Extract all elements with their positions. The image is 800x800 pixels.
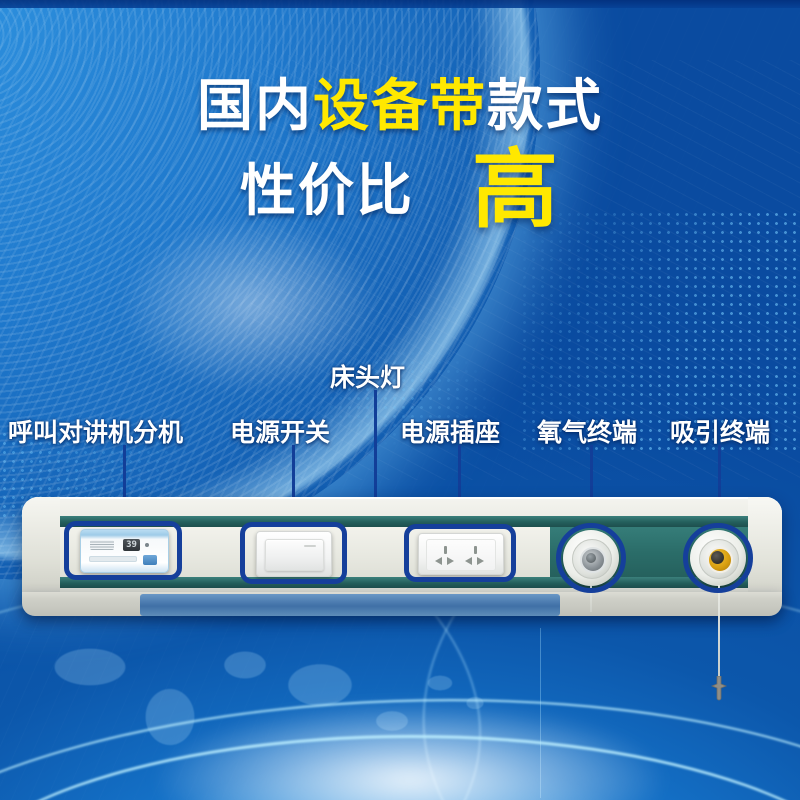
highlight-box-power-socket <box>404 524 516 582</box>
label-power-switch: 电源开关 <box>230 413 330 449</box>
label-bedside-lamp: 床头灯 <box>330 358 405 394</box>
headline-text-domestic: 国内 <box>197 74 313 137</box>
cord-handle-icon[interactable] <box>709 676 729 702</box>
headline-line-1: 国内设备带款式 <box>0 78 800 134</box>
headline-text-bedhead-unit: 设备带 <box>313 74 487 137</box>
top-edge-band <box>0 0 800 8</box>
pull-cord[interactable] <box>718 585 720 685</box>
label-suction-terminal: 吸引终端 <box>670 413 770 449</box>
label-oxygen-terminal: 氧气终端 <box>537 413 637 449</box>
label-nurse-call-intercom: 呼叫对讲机分机 <box>8 413 183 449</box>
label-power-socket: 电源插座 <box>400 413 500 449</box>
headline-text-value-ratio: 性价比 <box>240 163 414 219</box>
highlight-circle-suction <box>683 523 753 593</box>
promo-image: 国内设备带款式 性价比 高 呼叫对讲机分机 电源开关 床头灯 电源插座 氧气终端… <box>0 0 800 800</box>
panel-end-cap-right <box>748 497 782 607</box>
headline-block: 国内设备带款式 性价比 高 <box>0 78 800 232</box>
headline-text-style: 款式 <box>487 74 603 137</box>
highlight-box-power-switch <box>240 522 347 584</box>
headline-text-high: 高 <box>472 150 560 232</box>
headline-line-2: 性价比 高 <box>0 150 800 232</box>
highlight-circle-oxygen <box>556 523 626 593</box>
panel-rail-glass-insert <box>140 594 560 616</box>
highlight-box-intercom <box>64 521 182 580</box>
panel-end-cap-left <box>22 497 60 607</box>
